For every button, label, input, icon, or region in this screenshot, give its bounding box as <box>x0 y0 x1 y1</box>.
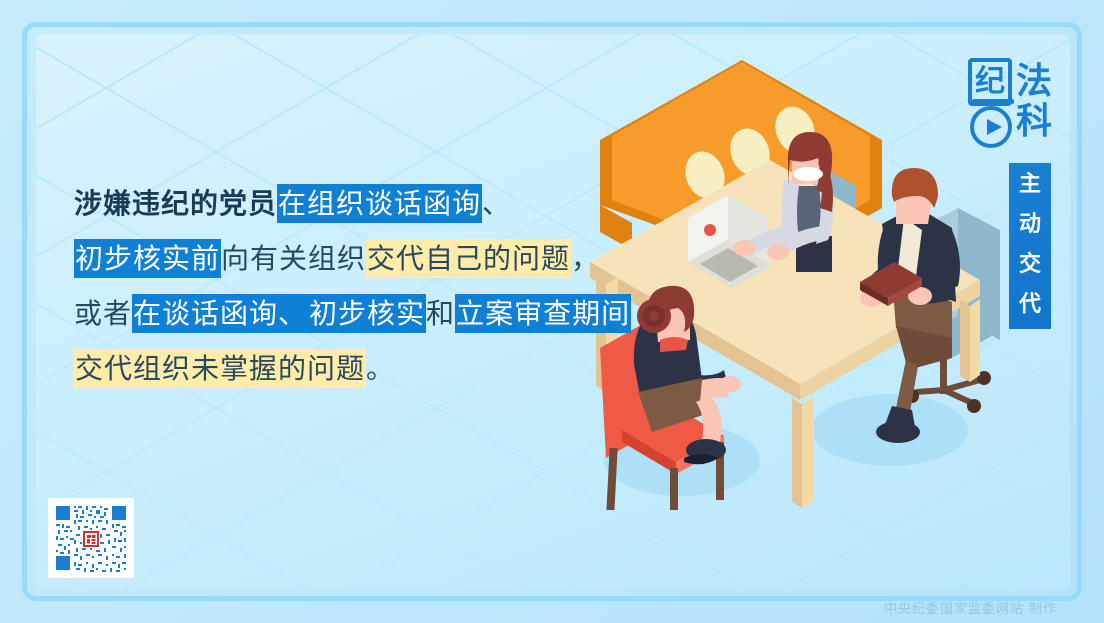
statement-line-1: 涉嫌违纪的党员在组织谈话函询、 <box>74 176 614 231</box>
banner-char-1: 主 <box>1009 165 1051 205</box>
statement-line-3: 或者在谈话函询、初步核实和立案审查期间 <box>74 286 614 341</box>
statement-segment: 、 <box>482 187 511 220</box>
brand-logo-jifabaike: 纪 法 科 <box>966 58 1062 168</box>
statement-segment: 。 <box>366 352 395 385</box>
statement-segment-highlight-blue: 立案审查期间 <box>455 294 631 333</box>
statement-segment-highlight-yellow: 交代组织未掌握的问题 <box>74 349 366 388</box>
illustration-isometric-interview-scene <box>560 40 1030 510</box>
banner-char-4: 代 <box>1009 285 1051 325</box>
statement-segment-highlight-blue: 初步核实 <box>308 294 426 333</box>
statement-segment-highlight-blue: 在组织谈话函询 <box>277 184 482 223</box>
logo-char-bai-play-icon <box>970 106 1012 148</box>
main-statement-text: 涉嫌违纪的党员在组织谈话函询、 初步核实前向有关组织交代自己的问题， 或者在谈话… <box>74 176 614 396</box>
credit-text: 中央纪委国家监委网站 制作 <box>884 598 1057 617</box>
statement-line-2: 初步核实前向有关组织交代自己的问题， <box>74 231 614 286</box>
statement-segment: 向有关组织 <box>221 242 366 275</box>
topic-banner: 主 动 交 代 <box>1009 163 1051 329</box>
banner-char-2: 动 <box>1009 205 1051 245</box>
banner-char-3: 交 <box>1009 245 1051 285</box>
statement-line-4: 交代组织未掌握的问题。 <box>74 341 614 396</box>
statement-segment: 涉嫌违纪的党员 <box>74 187 277 220</box>
logo-char-fa: 法 <box>1016 64 1052 100</box>
statement-segment: 或者 <box>74 297 132 330</box>
statement-segment-highlight-yellow: 交代自己的问题 <box>366 239 571 278</box>
poster-canvas: 涉嫌违纪的党员在组织谈话函询、 初步核实前向有关组织交代自己的问题， 或者在谈话… <box>0 0 1104 623</box>
logo-char-ke: 科 <box>1016 104 1052 140</box>
qr-code[interactable] <box>48 498 134 578</box>
logo-bai-top-bar <box>972 99 1014 104</box>
statement-segment-highlight-blue: 初步核实前 <box>74 239 221 278</box>
statement-segment: ， <box>571 242 600 275</box>
statement-segment: 和 <box>426 297 455 330</box>
statement-segment-highlight-blue: 在谈话函询、 <box>132 294 308 333</box>
